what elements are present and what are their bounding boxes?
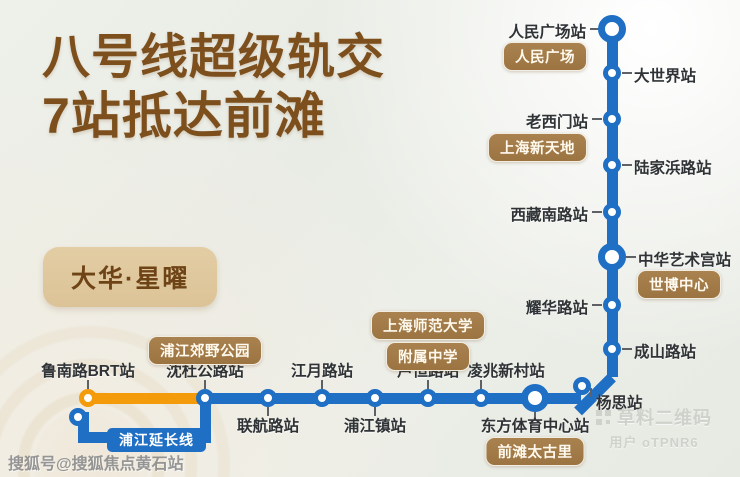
station-marker-renmin-guangchang[interactable] [598, 15, 626, 43]
station-label-xizang-nan-lu: 西藏南路站 [510, 203, 588, 225]
tick-lujiabang [622, 164, 632, 166]
station-marker-lingzhao-xincun[interactable] [472, 389, 490, 407]
station-marker-pujiangzhen[interactable] [366, 389, 384, 407]
station-marker-lunan-lu-brt[interactable] [79, 389, 97, 407]
transit-line-poster: 八号线超级轨交 7站抵达前滩 大华·星曜 人民广 [0, 0, 740, 477]
station-marker-dashijie[interactable] [603, 64, 621, 82]
station-label-chengshan-lu: 成山路站 [634, 340, 696, 362]
poi-tag-shanghai-shifan-daxue-group: 上海师范大学 附属中学 [371, 311, 485, 371]
station-label-dongfang-tiyu-zhongxin: 东方体育中心站 [481, 414, 590, 436]
brand-badge: 大华·星曜 [43, 247, 217, 307]
tick-chengshan [622, 348, 632, 350]
station-marker-laoximen[interactable] [603, 110, 621, 128]
station-marker-jiangyue-lu[interactable] [313, 389, 331, 407]
station-label-lianhang-lu: 联航路站 [237, 414, 299, 436]
station-marker-dongfang-tiyu-zhongxin[interactable] [521, 384, 549, 412]
station-label-zhonghua-yishugong: 中华艺术宫站 [638, 248, 731, 270]
tick-zhonghua [626, 256, 636, 258]
station-marker-zhonghua-yishugong[interactable] [598, 243, 626, 271]
tick-dashijie [622, 72, 632, 74]
poi-tag-shibo-zhongxin: 世博中心 [637, 270, 721, 299]
tick-jiangyue [321, 380, 323, 389]
poi-tag-pujiang-jiaoye-gongyuan: 浦江郊野公园 [148, 336, 262, 365]
station-marker-shendu-gonglu[interactable] [196, 389, 214, 407]
station-label-renmin-guangchang: 人民广场站 [508, 20, 586, 42]
station-marker-chengshan-lu[interactable] [603, 340, 621, 358]
station-marker-luheng-lu[interactable] [419, 389, 437, 407]
station-marker-xizang-nan-lu[interactable] [603, 203, 621, 221]
qr-code-icon [596, 410, 611, 425]
station-marker-loop-terminus[interactable] [69, 408, 87, 426]
station-marker-lujiabang-lu[interactable] [603, 156, 621, 174]
station-label-pujiangzhen: 浦江镇站 [344, 414, 406, 436]
station-label-lujiabang-lu: 陆家浜路站 [634, 156, 712, 178]
tick-laoximen [592, 118, 602, 120]
qr-watermark-line-2: 用户 oTPNR6 [596, 432, 712, 451]
station-marker-lianhang-lu[interactable] [259, 389, 277, 407]
poi-tag-shanghai-shifan-daxue: 上海师范大学 [371, 311, 485, 340]
tick-luheng [427, 380, 429, 389]
station-marker-yangsi[interactable] [573, 377, 591, 395]
tick-xizang [592, 211, 602, 213]
footer-watermark: 搜狐号@搜狐焦点黄石站 [8, 450, 184, 474]
poi-tag-qiantan-taikooli: 前滩太古里 [486, 437, 585, 466]
station-marker-yaohua-lu[interactable] [603, 296, 621, 314]
headline-block: 八号线超级轨交 7站抵达前滩 [42, 34, 385, 142]
tick-lunan [87, 380, 89, 389]
station-label-yaohua-lu: 耀华路站 [526, 296, 588, 318]
poi-tag-fushu-zhongxue: 附属中学 [386, 342, 470, 371]
tick-lingzhao [480, 380, 482, 389]
station-label-laoximen: 老西门站 [526, 110, 588, 132]
poi-tag-xintiandi: 上海新天地 [488, 133, 587, 162]
qr-watermark: 草料二维码 用户 oTPNR6 [596, 404, 712, 451]
station-label-dashijie: 大世界站 [634, 64, 696, 86]
qr-watermark-line-1: 草料二维码 [617, 404, 712, 430]
headline-line-2: 7站抵达前滩 [42, 91, 385, 142]
tick-yaohua [592, 304, 602, 306]
rail-segment-orange [88, 393, 208, 404]
tick-shendu [204, 380, 206, 389]
station-label-lunan-lu-brt: 鲁南路BRT站 [41, 359, 135, 381]
poi-tag-renmin-guangchang: 人民广场 [503, 42, 587, 71]
station-label-jiangyue-lu: 江月路站 [291, 359, 353, 381]
branch-line-label: 浦江延长线 [107, 428, 206, 452]
headline-line-1: 八号线超级轨交 [42, 34, 385, 83]
